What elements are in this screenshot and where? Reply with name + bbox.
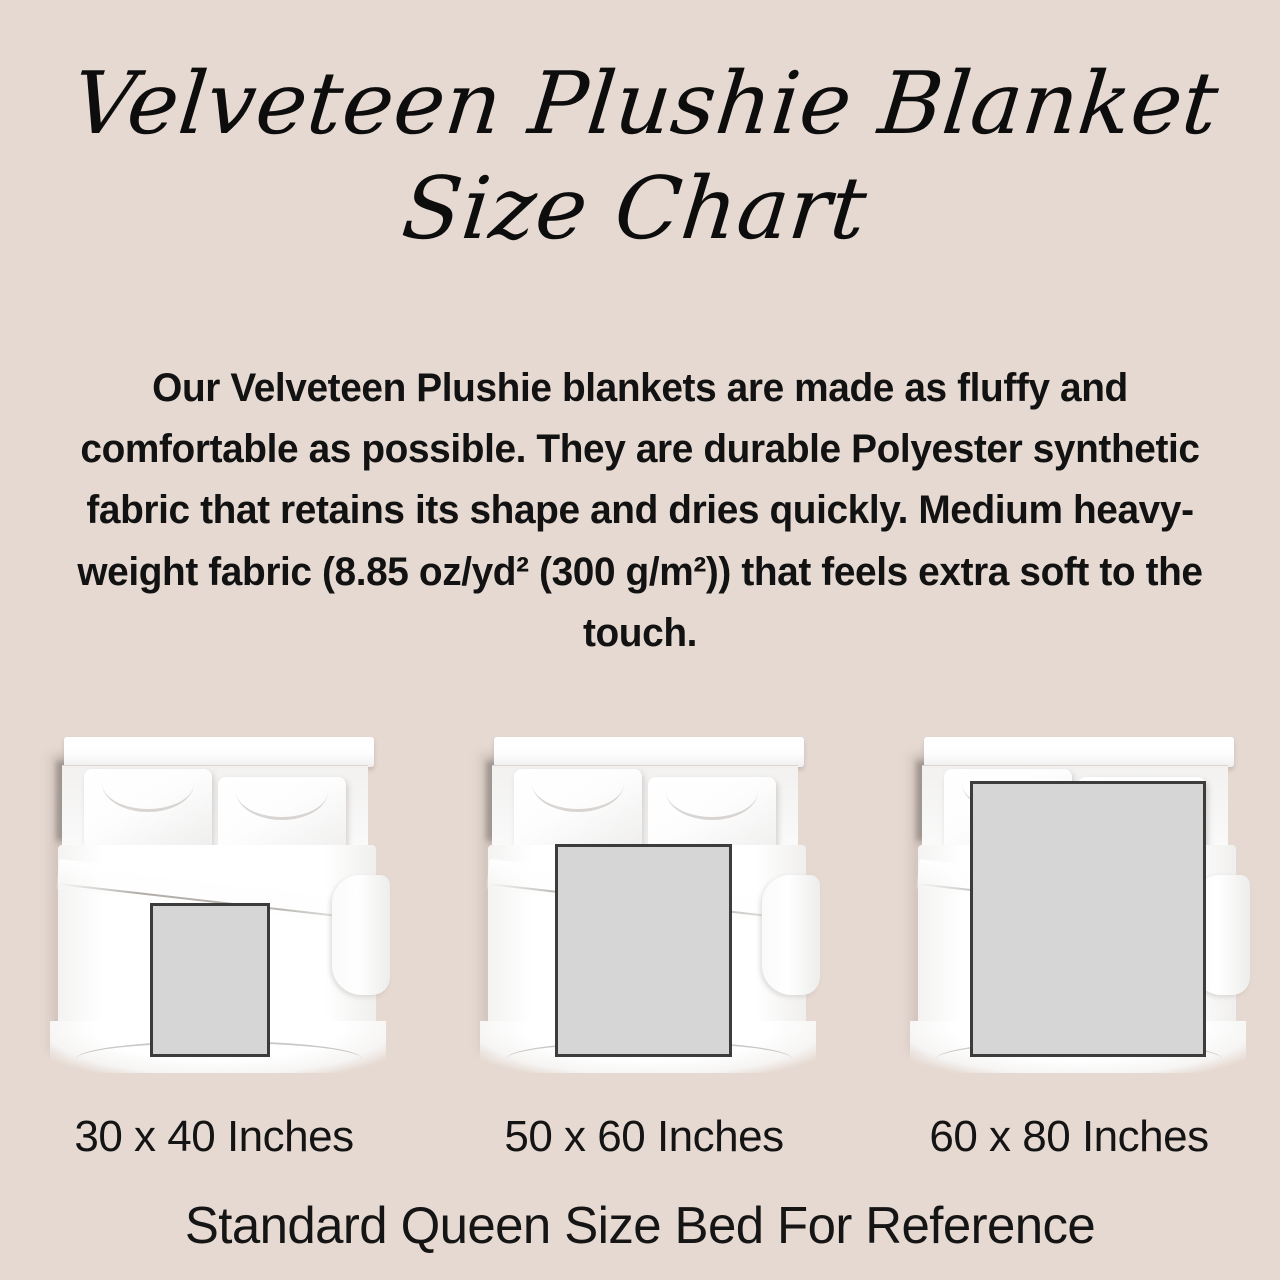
bed-figure-50x60 [472,735,824,1075]
product-description: Our Velveteen Plushie blankets are made … [19,358,1261,664]
bed-figure-30x40 [42,735,394,1075]
size-label-60x80: 60 x 80 Inches [858,1112,1280,1162]
blanket-overlay-30x40 [150,903,270,1057]
size-label-30x40: 30 x 40 Inches [0,1112,428,1162]
duvet-drape [332,875,390,995]
pillow-crease [236,791,328,820]
duvet-drape [762,875,820,995]
blanket-overlay-50x60 [555,844,732,1057]
size-label-50x60: 50 x 60 Inches [430,1112,858,1162]
headboard-bar [924,737,1234,767]
blanket-overlay-60x80 [970,781,1206,1057]
headboard-bar [494,737,804,767]
pillow-crease [532,783,624,812]
footer-caption: Standard Queen Size Bed For Reference [13,1196,1267,1256]
bed-comparison-row [0,735,1280,1075]
pillow-left [84,769,212,855]
pillow-crease [666,791,758,820]
bed-figure-60x80 [902,735,1254,1075]
headboard-bar [64,737,374,767]
pillow-crease [102,783,194,812]
blanket-size-chart-page: { "page": { "background_color": "#e6d9d1… [0,0,1280,1280]
pillow-left [514,769,642,855]
page-title: Velveteen Plushie Blanket Size Chart [0,52,1280,262]
